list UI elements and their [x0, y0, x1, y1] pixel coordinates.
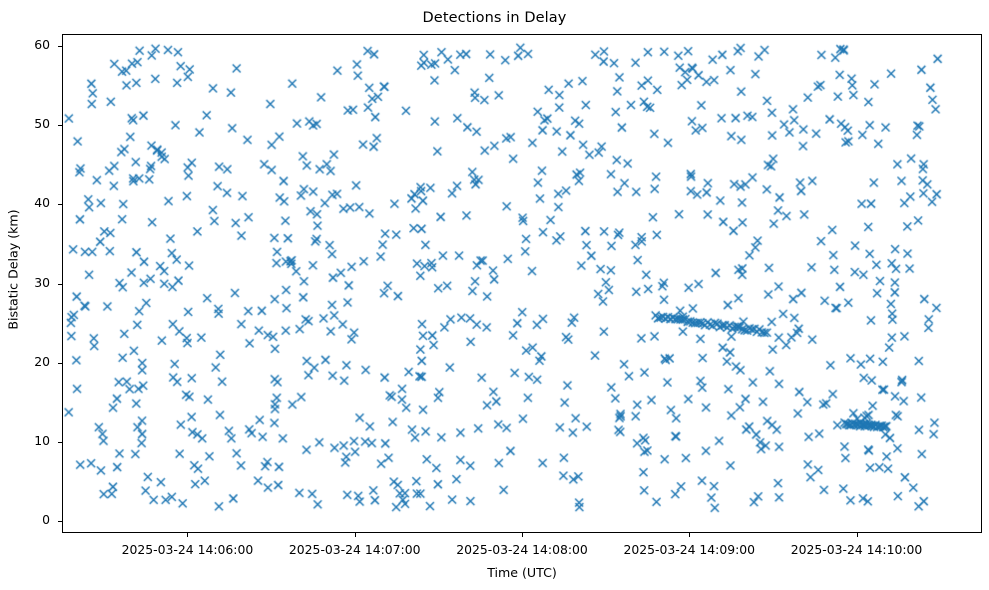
- y-tick-label: 10: [10, 435, 50, 447]
- x-tick-label: 2025-03-24 14:10:00: [747, 542, 967, 557]
- y-tick-label: 40: [10, 197, 50, 209]
- y-tick-label: 30: [10, 277, 50, 289]
- x-tick-mark: [355, 533, 356, 537]
- y-tick-label: 0: [10, 514, 50, 526]
- matplotlib-figure: Detections in Delay Bistatic Delay (km) …: [0, 0, 989, 590]
- scatter-points: [63, 35, 981, 532]
- y-tick-label: 50: [10, 118, 50, 130]
- y-tick-label: 20: [10, 356, 50, 368]
- x-axis-label: Time (UTC): [62, 565, 982, 580]
- y-tick-label: 60: [10, 39, 50, 51]
- y-axis-tick-labels: 0102030405060: [0, 0, 62, 590]
- page-title: Detections in Delay: [0, 10, 989, 26]
- x-tick-mark: [522, 533, 523, 537]
- x-tick-mark: [857, 533, 858, 537]
- x-tick-mark: [689, 533, 690, 537]
- x-tick-mark: [187, 533, 188, 537]
- plot-area: [62, 34, 982, 533]
